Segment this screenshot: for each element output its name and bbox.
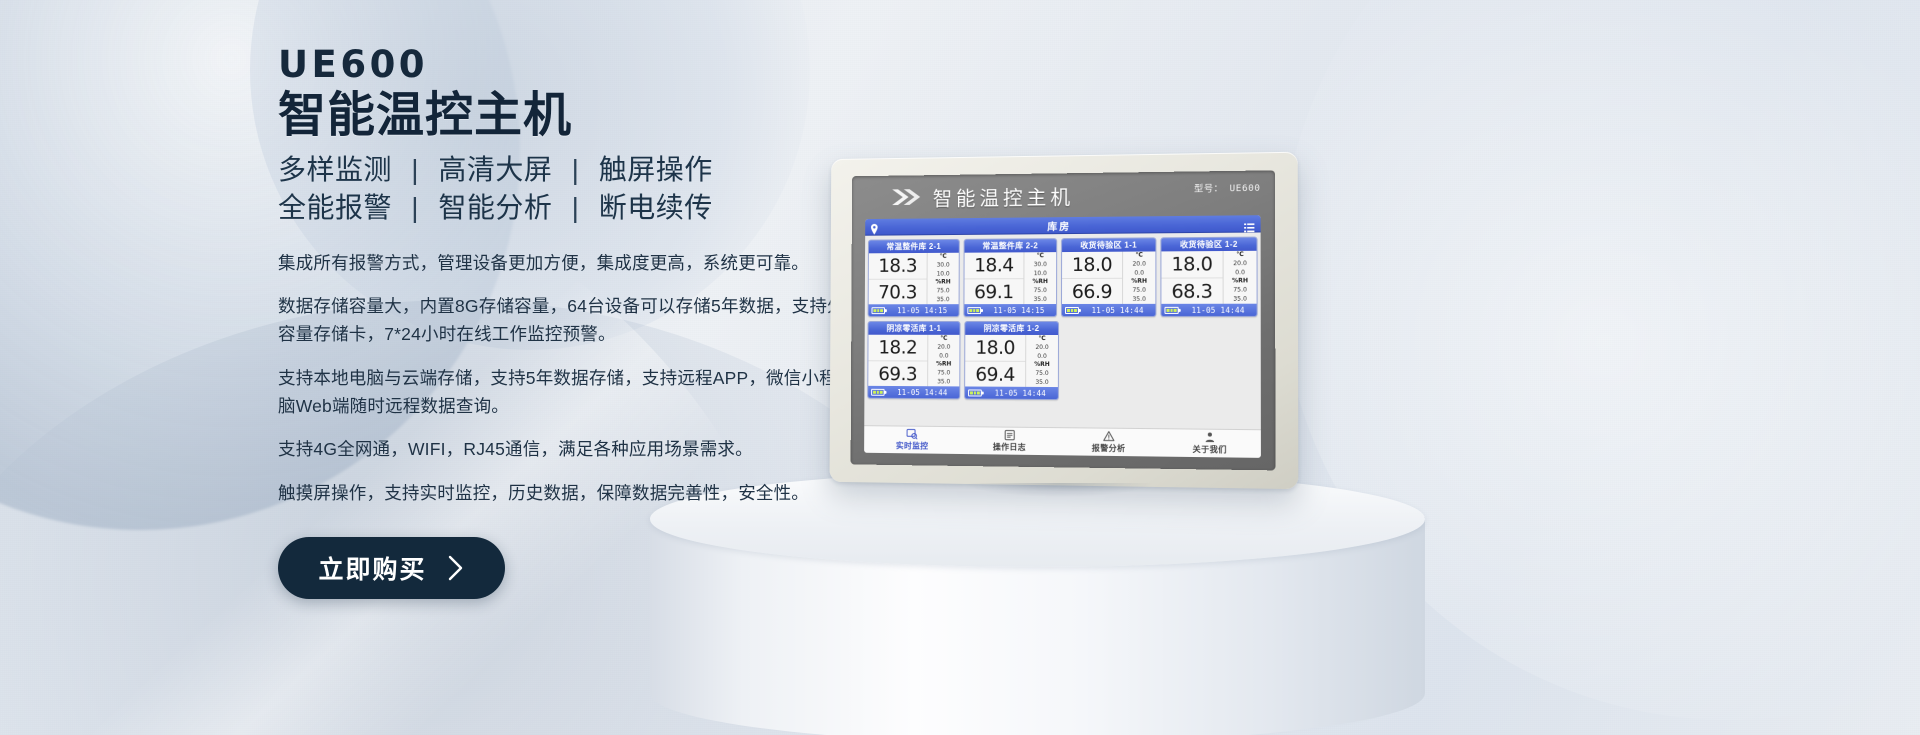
banner-text-column: UE600 智能温控主机 多样监测 | 高清大屏 | 触屏操作 全能报警 | 智… [278,46,898,599]
humidity-min: 35.0 [1224,295,1257,304]
feature-separator: | [561,192,591,223]
feature-smart-analysis: 智能分析 [438,192,552,223]
sensor-card[interactable]: 阴凉零活库 1-2 18.0 69.4 ℃ 20.0 0.0 [964,321,1059,400]
humidity-min: 35.0 [928,378,959,387]
battery-icon [871,388,884,395]
sensor-card-body: 18.4 69.1 ℃ 30.0 10.0 %RH 75.0 35.0 [964,252,1056,304]
sensor-limits: ℃ 20.0 0.0 %RH 75.0 35.0 [1122,251,1155,303]
temperature-max: 20.0 [1026,344,1058,353]
sensor-readings: 18.2 69.3 [868,335,927,386]
humidity-unit: %RH [928,278,959,287]
feature-power-off-resume: 断电续传 [599,192,713,223]
device-screen-title: 智能温控主机 [933,181,1074,211]
temperature-value: 18.4 [965,252,1024,278]
location-pin-icon [871,222,878,240]
nav-item-operation-log[interactable]: 操作日志 [961,427,1059,455]
humidity-max: 75.0 [1224,286,1257,295]
sensor-cards-area: 常温整件库 2-1 18.3 70.3 ℃ 30.0 10.0 [864,232,1261,429]
temperature-min: 10.0 [928,270,959,279]
feature-separator: | [400,154,430,185]
sensor-readings: 18.4 69.1 [964,252,1023,304]
feature-full-alarm: 全能报警 [278,192,392,223]
feature-line-1: 多样监测 | 高清大屏 | 触屏操作 [278,151,898,189]
humidity-value: 66.9 [1062,278,1122,304]
humidity-max: 75.0 [1024,287,1056,296]
humidity-unit: %RH [1026,361,1058,370]
feature-hd-display: 高清大屏 [438,154,552,185]
humidity-max: 75.0 [1026,370,1058,379]
product-banner: UE600 智能温控主机 多样监测 | 高清大屏 | 触屏操作 全能报警 | 智… [0,0,1920,735]
sensor-limits: ℃ 30.0 10.0 %RH 75.0 35.0 [1023,252,1056,304]
sensor-card[interactable]: 阴凉零活库 1-1 18.2 69.3 ℃ 20.0 0.0 [867,321,960,399]
sensor-card-row: 常温整件库 2-1 18.3 70.3 ℃ 30.0 10.0 [868,237,1258,317]
double-chevron-icon [890,187,923,207]
temperature-unit: ℃ [1224,251,1257,260]
app-header-bar: 库房 [865,215,1260,236]
page-title: 智能温控主机 [278,89,898,143]
battery-icon [968,389,982,396]
sensor-timestamp: 11-05 14:44 [1083,305,1152,314]
battery-icon [872,307,885,314]
temperature-unit: ℃ [1123,251,1155,260]
ue600-device: 智能温控主机 型号：UE600 库房 [824,155,1294,485]
sensor-card-footer: 11-05 14:44 [868,386,959,398]
description-paragraph: 支持本地电脑与云端存储，支持5年数据存储，支持远程APP，微信小程序，电脑Web… [278,364,898,421]
sensor-card-footer: 11-05 14:15 [869,304,959,316]
sensor-card[interactable]: 常温整件库 2-2 18.4 69.1 ℃ 30.0 10.0 [963,238,1057,317]
nav-label: 关于我们 [1192,444,1226,456]
nav-item-about-us[interactable]: 关于我们 [1159,429,1261,458]
sensor-card-body: 18.0 66.9 ℃ 20.0 0.0 %RH 75.0 35.0 [1062,251,1155,304]
nav-label: 操作日志 [993,441,1026,452]
list-menu-icon[interactable] [1244,219,1254,237]
device-model-info: 型号：UE600 [1194,181,1261,195]
humidity-min: 35.0 [1026,378,1058,387]
sensor-readings: 18.3 70.3 [869,253,927,304]
humidity-unit: %RH [928,360,959,369]
temperature-unit: ℃ [928,253,959,262]
buy-now-label: 立即购买 [318,550,426,586]
temperature-value: 18.0 [965,335,1025,361]
sensor-limits: ℃ 20.0 0.0 %RH 75.0 35.0 [1025,335,1058,387]
humidity-value: 68.3 [1161,277,1222,303]
sensor-card-title: 常温整件库 2-2 [965,239,1057,253]
sensor-timestamp: 11-05 14:44 [888,387,956,396]
humidity-unit: %RH [1024,278,1056,287]
sensor-card-footer: 11-05 14:44 [1161,304,1256,316]
temperature-min: 0.0 [928,352,959,361]
model-value: UE600 [1230,184,1261,195]
temperature-max: 20.0 [1123,260,1155,269]
sensor-limits: ℃ 30.0 10.0 %RH 75.0 35.0 [927,253,959,304]
sensor-readings: 18.0 68.3 [1161,251,1222,304]
sensor-card-footer: 11-05 14:44 [1062,304,1155,316]
battery-icon [967,307,981,314]
humidity-max: 75.0 [928,369,959,378]
log-icon [1004,430,1015,441]
app-bottom-nav: 实时监控 操作日志 [864,425,1261,458]
sensor-card-title: 阴凉零活库 1-1 [869,322,960,335]
sensor-card-title: 阴凉零活库 1-2 [965,322,1058,335]
description-paragraphs: 集成所有报警方式，管理设备更加方便，集成度更高，系统更可靠。 数据存储容量大，内… [278,249,898,507]
sensor-readings: 18.0 69.4 [965,335,1025,387]
sensor-card-footer: 11-05 14:15 [964,304,1056,316]
sensor-readings: 18.0 66.9 [1062,252,1122,304]
sensor-card-title: 常温整件库 2-1 [869,240,959,253]
temperature-value: 18.0 [1161,251,1222,278]
humidity-min: 35.0 [927,296,958,305]
nav-label: 报警分析 [1092,443,1126,455]
sensor-limits: ℃ 20.0 0.0 %RH 75.0 35.0 [927,335,959,387]
sensor-card-body: 18.2 69.3 ℃ 20.0 0.0 %RH 75.0 35.0 [868,335,959,387]
description-paragraph: 数据存储容量大，内置8G存储容量，64台设备可以存储5年数据，支持外挂更大容量存… [278,292,898,349]
humidity-unit: %RH [1123,278,1155,287]
sensor-card-body: 18.0 69.4 ℃ 20.0 0.0 %RH 75.0 35.0 [965,335,1058,387]
device-stand-shadow [965,483,1153,497]
sensor-card-body: 18.3 70.3 ℃ 30.0 10.0 %RH 75.0 35.0 [869,253,959,305]
feature-line-2: 全能报警 | 智能分析 | 断电续传 [278,189,898,227]
sensor-card-title: 收货待验区 1-1 [1062,238,1155,252]
about-person-icon [1204,432,1215,443]
sensor-card-body: 18.0 68.3 ℃ 20.0 0.0 %RH 75.0 35.0 [1161,251,1256,304]
temperature-max: 20.0 [1224,260,1257,269]
temperature-max: 30.0 [1024,261,1056,270]
sensor-card-footer: 11-05 14:44 [965,386,1058,399]
humidity-value: 69.1 [964,278,1023,304]
humidity-value: 69.4 [965,361,1025,387]
sensor-card-row: 阴凉零活库 1-1 18.2 69.3 ℃ 20.0 0.0 [867,321,1257,402]
temperature-min: 10.0 [1024,269,1056,278]
humidity-max: 75.0 [928,287,959,296]
humidity-unit: %RH [1224,277,1257,286]
description-paragraph: 触摸屏操作，支持实时监控，历史数据，保障数据完善性，安全性。 [278,479,898,507]
battery-icon [1164,306,1178,313]
sensor-limits: ℃ 20.0 0.0 %RH 75.0 35.0 [1223,251,1257,304]
humidity-min: 35.0 [1123,295,1155,304]
feature-separator: | [561,154,591,185]
nav-label: 实时监控 [896,440,929,451]
warning-triangle-icon [1103,431,1115,442]
feature-touch-operation: 触屏操作 [599,154,713,185]
humidity-min: 35.0 [1024,295,1056,304]
temperature-max: 30.0 [928,261,959,270]
sensor-timestamp: 11-05 14:15 [889,306,956,315]
temperature-min: 0.0 [1123,269,1155,278]
battery-icon [1065,306,1079,313]
temperature-value: 18.2 [868,335,927,361]
buy-now-button[interactable]: 立即购买 [278,537,505,599]
feature-tagline-group: 多样监测 | 高清大屏 | 触屏操作 全能报警 | 智能分析 | 断电续传 [278,151,898,227]
sensor-timestamp: 11-05 14:44 [986,388,1055,397]
monitor-icon [907,429,918,440]
feature-separator: | [400,192,430,223]
feature-multi-monitor: 多样监测 [278,154,392,185]
temperature-unit: ℃ [1026,335,1058,344]
app-header-title: 库房 [865,216,1260,235]
temperature-min: 0.0 [1224,268,1257,277]
device-app-panel: 库房 [864,215,1261,458]
temperature-value: 18.0 [1062,252,1122,278]
model-name: UE600 [278,46,898,85]
nav-item-alarm-analysis[interactable]: 报警分析 [1059,428,1159,456]
sensor-card[interactable]: 收货待验区 1-1 18.0 66.9 ℃ 20.0 0.0 [1061,237,1156,317]
humidity-value: 69.3 [868,360,927,386]
humidity-value: 70.3 [869,279,927,305]
temperature-unit: ℃ [928,335,959,344]
sensor-card-title: 收货待验区 1-2 [1161,238,1256,252]
description-paragraph: 支持4G全网通，WIFI，RJ45通信，满足各种应用场景需求。 [278,435,898,463]
description-paragraph: 集成所有报警方式，管理设备更加方便，集成度更高，系统更可靠。 [278,249,898,277]
temperature-unit: ℃ [1024,252,1056,261]
sensor-timestamp: 11-05 14:15 [985,306,1053,315]
sensor-card[interactable]: 常温整件库 2-1 18.3 70.3 ℃ 30.0 10.0 [868,239,960,317]
device-screen: 智能温控主机 型号：UE600 库房 [851,170,1276,470]
nav-item-realtime-monitor[interactable]: 实时监控 [864,426,960,454]
temperature-max: 20.0 [928,343,959,352]
temperature-value: 18.3 [869,253,927,279]
temperature-min: 0.0 [1026,352,1058,361]
humidity-max: 75.0 [1123,286,1155,295]
sensor-timestamp: 11-05 14:44 [1183,305,1254,314]
sensor-card[interactable]: 收货待验区 1-2 18.0 68.3 ℃ 20.0 0.0 [1160,237,1257,317]
model-label: 型号： [1194,183,1223,193]
chevron-right-icon [447,554,465,582]
